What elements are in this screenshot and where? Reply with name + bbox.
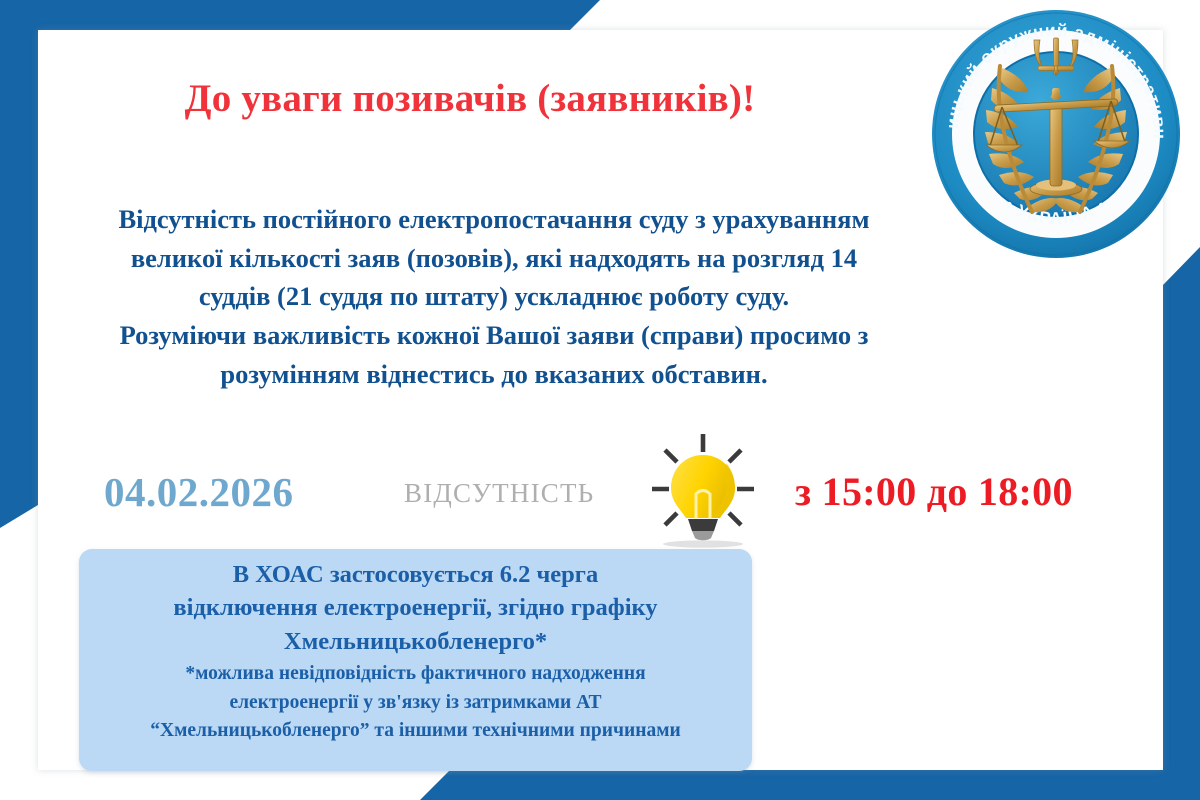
- body-line: розумінням віднестись до вказаних обстав…: [48, 355, 940, 394]
- outage-status-label: ВІДСУТНІСТЬ: [404, 478, 594, 509]
- frame-bar-bottom: [420, 770, 1200, 800]
- outage-date: 04.02.2026: [104, 468, 294, 516]
- frame-bar-top: [0, 0, 600, 30]
- info-box: В ХОАС застосовується 6.2 черга відключе…: [79, 549, 752, 771]
- frame-bar-right: [1163, 247, 1200, 800]
- info-box-main-line: Хмельницькобленерго*: [79, 625, 752, 658]
- info-box-main-line: В ХОАС застосовується 6.2 черга: [79, 558, 752, 591]
- announcement-poster: Хмельницький окружний адміністративний с…: [0, 0, 1200, 800]
- body-line: суддів (21 суддя по штату) ускладнює роб…: [48, 277, 940, 316]
- announcement-body: Відсутність постійного електропостачання…: [48, 200, 940, 393]
- body-line: великої кількості заяв (позовів), які на…: [48, 239, 940, 278]
- info-box-main-line: відключення електроенергії, згідно графі…: [79, 591, 752, 624]
- info-box-note-line: електроенергії у зв'язку із затримками А…: [79, 689, 752, 718]
- body-line: Розуміючи важливість кожної Вашої заяви …: [48, 316, 940, 355]
- court-emblem-icon: Хмельницький окружний адміністративний с…: [928, 6, 1184, 262]
- page-title: До уваги позивачів (заявників)!: [40, 78, 900, 121]
- frame-bar-left: [0, 0, 38, 528]
- info-box-note-line: “Хмельницькобленерго” та іншими технічни…: [79, 717, 752, 746]
- info-box-note-line: *можлива невідповідність фактичного надх…: [79, 660, 752, 689]
- lightbulb-icon: [638, 430, 768, 548]
- outage-time-range: з 15:00 до 18:00: [795, 468, 1073, 515]
- body-line: Відсутність постійного електропостачання…: [48, 200, 940, 239]
